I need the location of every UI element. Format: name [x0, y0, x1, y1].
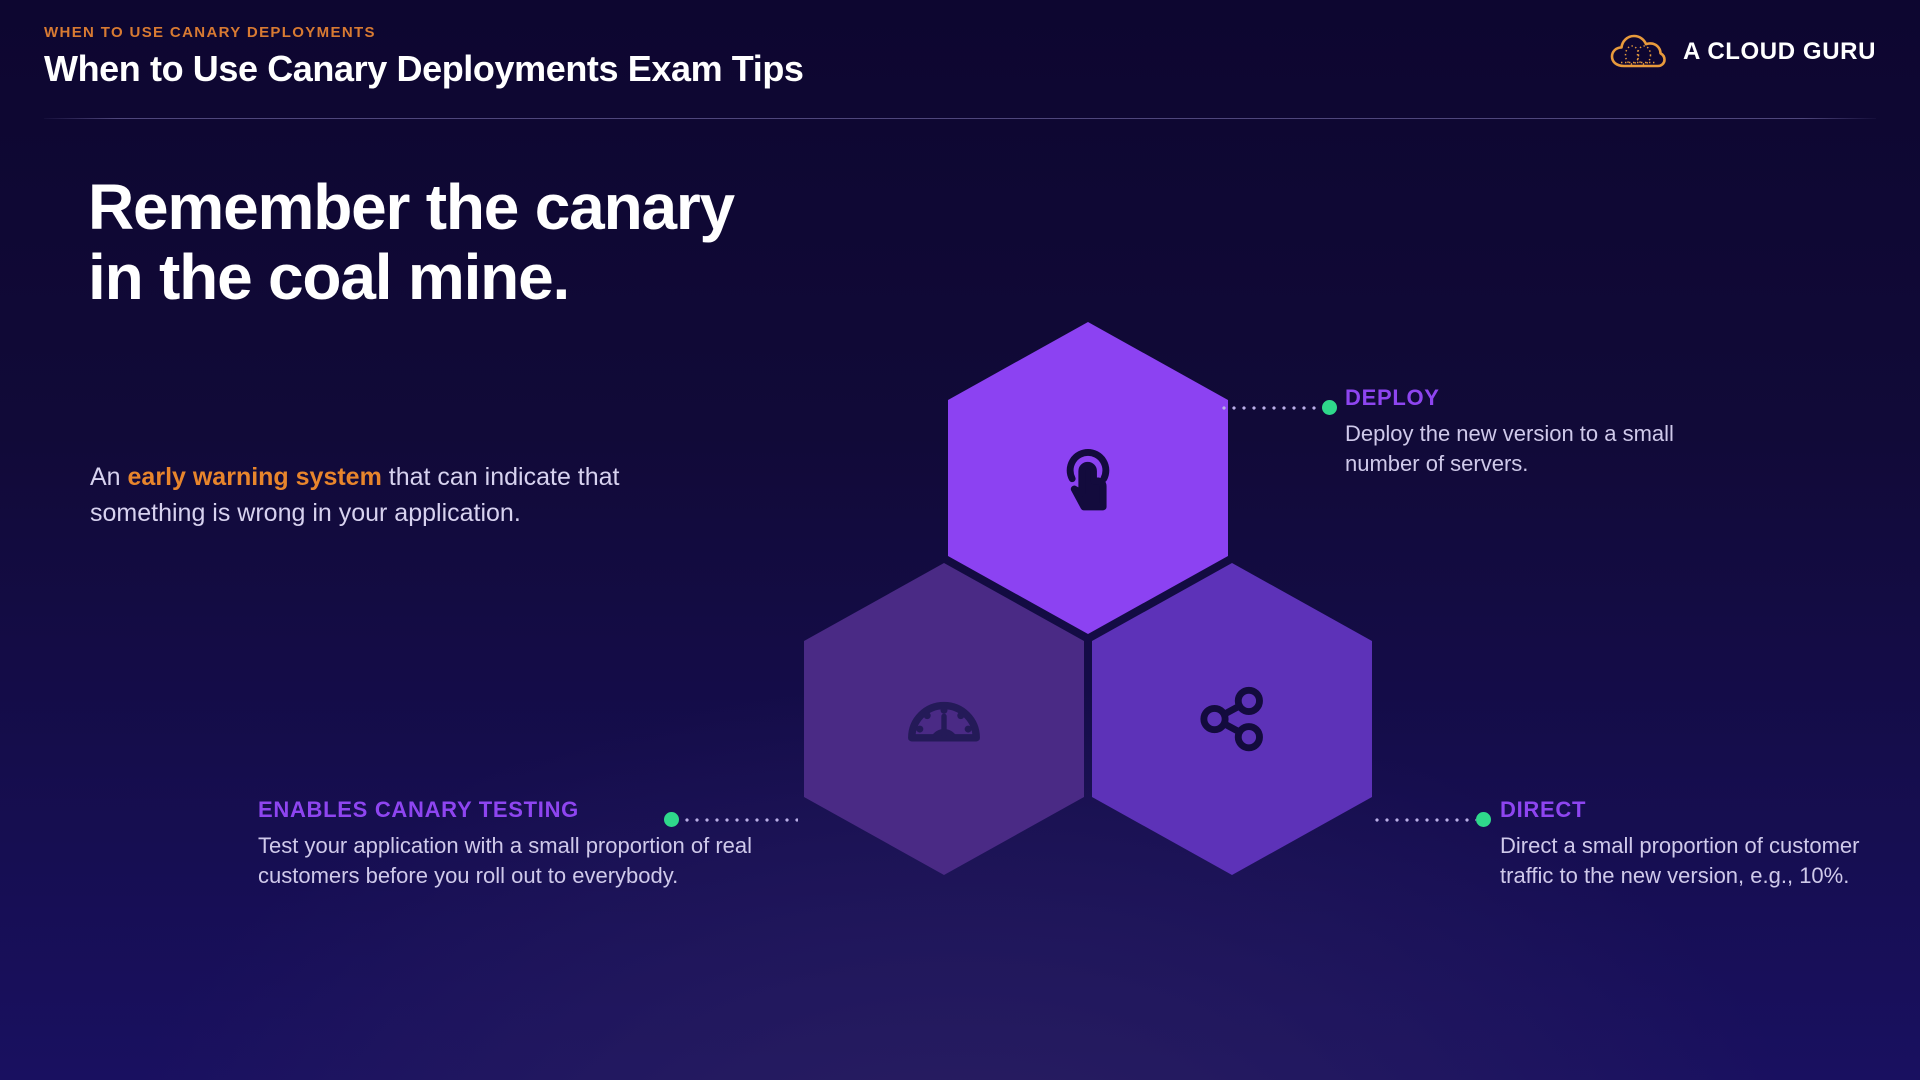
page-title: When to Use Canary Deployments Exam Tips — [44, 48, 804, 90]
headline: Remember the canary in the coal mine. — [88, 172, 768, 313]
callout-label-testing: ENABLES CANARY TESTING — [258, 797, 788, 823]
connector-node-deploy — [1322, 400, 1337, 415]
sub-copy-prefix: An — [90, 463, 128, 491]
hexagon-deploy[interactable] — [948, 322, 1228, 634]
connector-node-direct — [1476, 812, 1491, 827]
slide-eyebrow: WHEN TO USE CANARY DEPLOYMENTS — [44, 24, 376, 41]
callout-label-deploy: DEPLOY — [1345, 385, 1745, 411]
cloud-outline-icon — [1609, 32, 1667, 72]
brand-name: A CLOUD GURU — [1683, 38, 1876, 66]
callout-testing: ENABLES CANARY TESTING Test your applica… — [258, 797, 788, 891]
header-divider — [44, 118, 1876, 119]
callout-body-deploy: Deploy the new version to a small number… — [1345, 419, 1745, 479]
callout-body-testing: Test your application with a small propo… — [258, 831, 788, 891]
callout-direct: DIRECT Direct a small proportion of cust… — [1500, 797, 1870, 891]
callout-label-direct: DIRECT — [1500, 797, 1870, 823]
brand-logo: A CLOUD GURU — [1609, 32, 1876, 72]
connector-line-direct — [1372, 818, 1476, 822]
callout-deploy: DEPLOY Deploy the new version to a small… — [1345, 385, 1745, 479]
sub-copy: An early warning system that can indicat… — [90, 460, 730, 531]
tap-gesture-icon — [1044, 434, 1132, 522]
share-nodes-icon — [1192, 679, 1272, 759]
slide-header: WHEN TO USE CANARY DEPLOYMENTS When to U… — [0, 0, 1920, 120]
sub-copy-highlight: early warning system — [128, 463, 382, 491]
callout-body-direct: Direct a small proportion of customer tr… — [1500, 831, 1870, 891]
speedometer-icon — [901, 676, 987, 762]
hexagon-direct[interactable] — [1092, 563, 1372, 875]
hexagon-testing[interactable] — [804, 563, 1084, 875]
connector-line-deploy — [1219, 406, 1323, 410]
hexagon-diagram — [780, 310, 1400, 930]
